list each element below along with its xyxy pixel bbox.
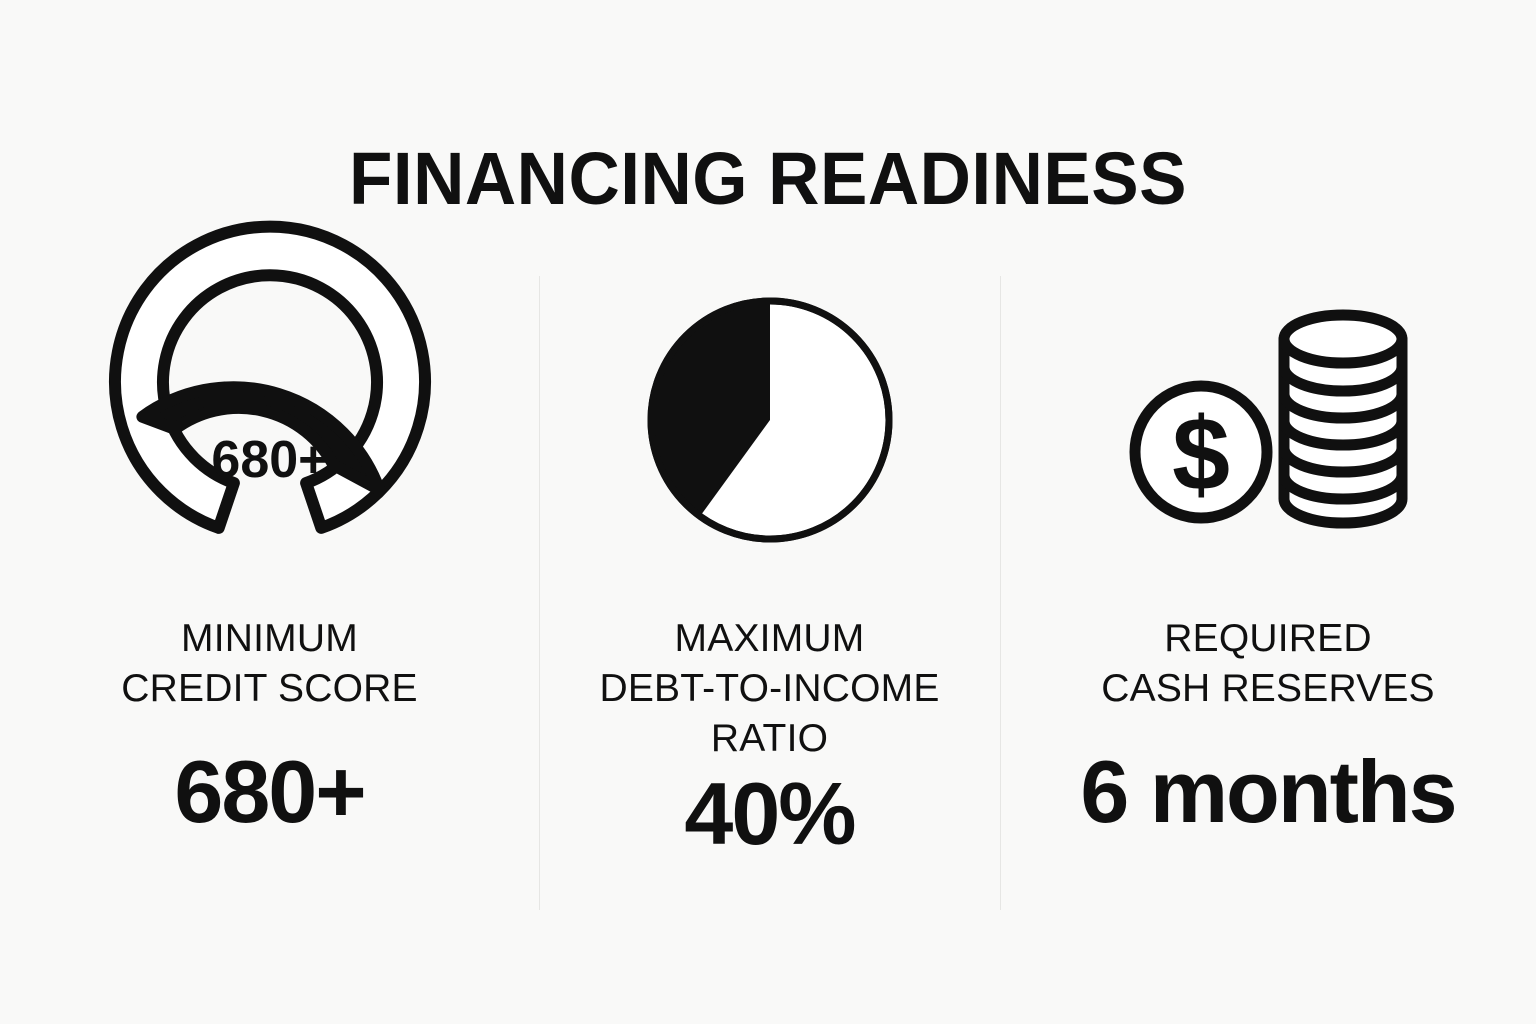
metric-value: 680+ bbox=[174, 748, 364, 836]
coins-icon: $ bbox=[1123, 309, 1413, 531]
coin-stack-top bbox=[1284, 315, 1402, 363]
dollar-coin-icon: $ bbox=[1135, 386, 1267, 518]
metric-card-required-cash-reserves: $ REQUIRED CASH RESERVES 6 months bbox=[1000, 270, 1536, 910]
metric-caption: MAXIMUM DEBT-TO-INCOME RATIO bbox=[599, 614, 939, 764]
metric-caption: REQUIRED CASH RESERVES bbox=[1101, 614, 1435, 714]
metric-caption: MINIMUM CREDIT SCORE bbox=[121, 614, 417, 714]
coin-stack-icon bbox=[1284, 315, 1402, 523]
coins-icon-wrap: $ bbox=[1123, 270, 1413, 570]
infographic-page: FINANCING READINESS 680+ MINIMUM CREDIT … bbox=[0, 0, 1536, 1024]
gauge-value-label: 680+ bbox=[211, 431, 328, 489]
metric-value: 40% bbox=[684, 770, 854, 858]
metric-card-minimum-credit-score: 680+ MINIMUM CREDIT SCORE 680+ bbox=[0, 270, 539, 910]
gauge-icon-wrap: 680+ bbox=[115, 270, 425, 570]
metric-card-maximum-dti-ratio: MAXIMUM DEBT-TO-INCOME RATIO 40% bbox=[539, 270, 1000, 910]
metric-value: 6 months bbox=[1080, 748, 1455, 836]
gauge-icon: 680+ bbox=[115, 305, 425, 535]
pie-chart-icon bbox=[644, 294, 896, 546]
metrics-row: 680+ MINIMUM CREDIT SCORE 680+ MAXIMUM D… bbox=[0, 270, 1536, 910]
dollar-sign-icon: $ bbox=[1172, 397, 1230, 513]
pie-chart-icon-wrap bbox=[644, 270, 896, 570]
page-title: FINANCING READINESS bbox=[31, 142, 1506, 216]
